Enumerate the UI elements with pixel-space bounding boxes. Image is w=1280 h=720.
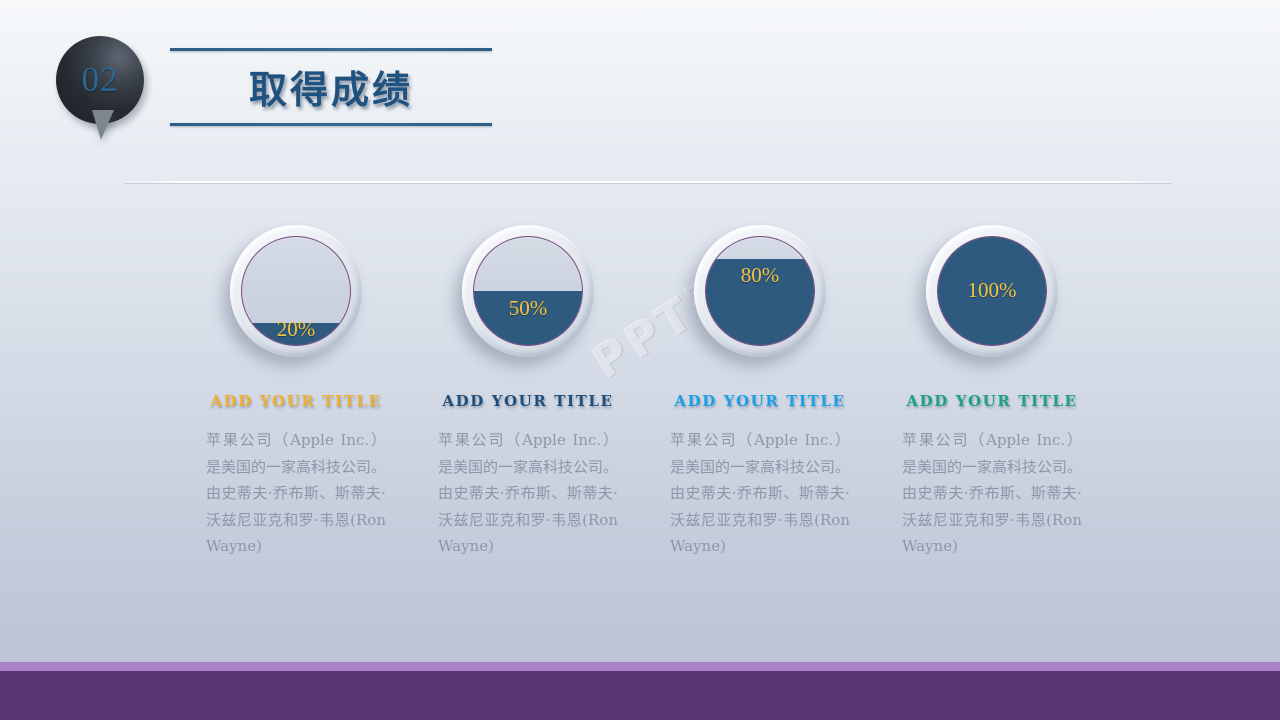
page-title: 取得成绩 [170,51,492,123]
section-number-badge: 02 [56,36,152,140]
section-number-text: 02 [56,36,144,124]
stat-column-2[interactable]: 50% ADD YOUR TITLE 苹果公司（Apple Inc.）是美国的一… [412,225,644,560]
progress-dial-1[interactable]: 20% [230,225,362,357]
progress-dial-label-1: 20% [242,317,350,342]
stat-body-2: 苹果公司（Apple Inc.）是美国的一家高科技公司。由史蒂夫·乔布斯、斯蒂夫… [438,427,618,560]
stat-title-1[interactable]: ADD YOUR TITLE [210,392,381,410]
footer-bar [0,671,1280,720]
stat-column-1[interactable]: 20% ADD YOUR TITLE 苹果公司（Apple Inc.）是美国的一… [180,225,412,560]
header-divider [124,181,1172,183]
progress-dial-3[interactable]: 80% [694,225,826,357]
stat-column-4[interactable]: 100% ADD YOUR TITLE 苹果公司（Apple Inc.）是美国的… [876,225,1108,560]
progress-dial-inner-3: 80% [705,236,815,346]
stat-title-4[interactable]: ADD YOUR TITLE [906,392,1077,410]
progress-dial-inner-2: 50% [473,236,583,346]
page-title-block: 取得成绩 [170,48,492,126]
footer-accent-bar [0,662,1280,671]
stat-title-2[interactable]: ADD YOUR TITLE [442,392,613,410]
progress-dial-inner-4: 100% [937,236,1047,346]
progress-dial-2[interactable]: 50% [462,225,594,357]
progress-dial-label-4: 100% [938,278,1046,303]
progress-dial-label-2: 50% [474,296,582,321]
stat-title-3[interactable]: ADD YOUR TITLE [674,392,845,410]
stat-body-4: 苹果公司（Apple Inc.）是美国的一家高科技公司。由史蒂夫·乔布斯、斯蒂夫… [902,427,1082,560]
slide-canvas: PPT家园 02 取得成绩 20% ADD YOUR TITLE 苹果公司（Ap… [0,0,1280,720]
progress-dial-inner-1: 20% [241,236,351,346]
progress-dial-label-3: 80% [706,263,814,288]
progress-dial-4[interactable]: 100% [926,225,1058,357]
stat-body-1: 苹果公司（Apple Inc.）是美国的一家高科技公司。由史蒂夫·乔布斯、斯蒂夫… [206,427,386,560]
stat-body-3: 苹果公司（Apple Inc.）是美国的一家高科技公司。由史蒂夫·乔布斯、斯蒂夫… [670,427,850,560]
stat-column-3[interactable]: 80% ADD YOUR TITLE 苹果公司（Apple Inc.）是美国的一… [644,225,876,560]
title-rule-bottom [170,123,492,126]
stat-columns: 20% ADD YOUR TITLE 苹果公司（Apple Inc.）是美国的一… [180,225,1110,560]
